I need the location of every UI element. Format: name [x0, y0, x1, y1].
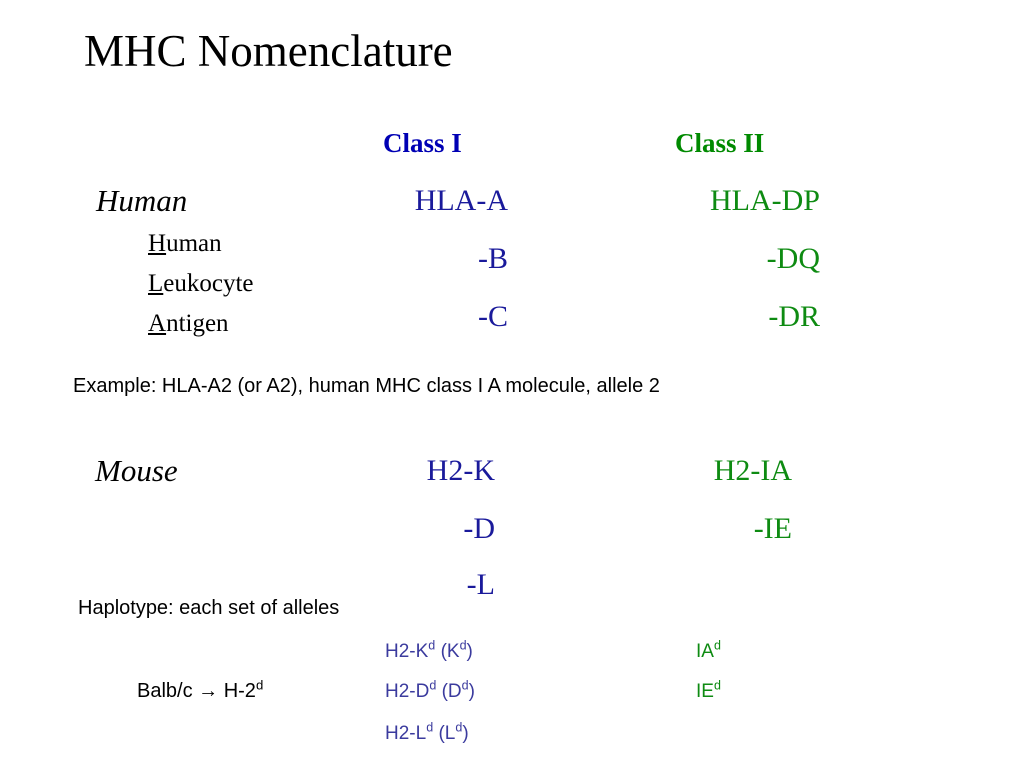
haplotype-allele-l-paren-close: )	[462, 723, 468, 744]
haplotype-allele-k-paren-base: (K	[441, 641, 460, 662]
human-expansion-line-2: Leukocyte	[148, 270, 254, 298]
human-class2-gene-dq: -DQ	[620, 242, 820, 276]
human-expansion-line-3: Antigen	[148, 310, 229, 338]
haplotype-allele-d-paren-sup: d	[462, 679, 469, 693]
human-class1-gene-a: HLA-A	[308, 184, 508, 218]
mouse-class2-gene-ia: H2-IA	[592, 454, 792, 488]
haplotype-allele-l-sup: d	[426, 721, 433, 735]
human-class1-gene-c: -C	[308, 300, 508, 334]
haplotype-note: Haplotype: each set of alleles	[78, 597, 339, 620]
haplotype-allele-d: H2-Dd (Dd)	[385, 681, 475, 703]
haplotype-allele-d-paren-base: (D	[442, 681, 462, 702]
human-expansion-rest-h: uman	[166, 230, 222, 257]
haplotype-allele-k-paren-close: )	[467, 641, 473, 662]
haplotype-allele-ia-sup: d	[714, 639, 721, 653]
human-class2-gene-dp: HLA-DP	[620, 184, 820, 218]
haplotype-allele-d-paren-close: )	[469, 681, 475, 702]
haplotype-allele-d-sup: d	[429, 679, 436, 693]
haplotype-allele-l-paren-base: (L	[438, 723, 455, 744]
haplotype-allele-ie: IEd	[696, 681, 721, 703]
slide-canvas: MHC Nomenclature Class I Class II Human …	[0, 0, 1024, 768]
strain-haplotype-text: Balb/c → H-2	[137, 680, 256, 702]
human-expansion-initial-l: L	[148, 270, 163, 297]
column-header-class-2: Class II	[675, 128, 764, 159]
human-class1-gene-b: -B	[308, 242, 508, 276]
page-title: MHC Nomenclature	[84, 28, 453, 75]
strain-haplotype-line: Balb/c → H-2d	[137, 680, 263, 703]
mouse-class1-gene-d: -D	[295, 512, 495, 546]
haplotype-allele-l: H2-Ld (Ld)	[385, 723, 469, 745]
human-expansion-initial-a: A	[148, 310, 166, 337]
haplotype-allele-ie-base: IE	[696, 681, 714, 702]
haplotype-allele-k-paren-sup: d	[460, 639, 467, 653]
haplotype-allele-l-base: H2-L	[385, 723, 426, 744]
species-label-mouse: Mouse	[95, 453, 178, 489]
human-expansion-line-1: Human	[148, 230, 222, 258]
human-example-note: Example: HLA-A2 (or A2), human MHC class…	[73, 375, 660, 398]
haplotype-allele-k: H2-Kd (Kd)	[385, 641, 473, 663]
haplotype-allele-k-sup: d	[428, 639, 435, 653]
haplotype-allele-k-base: H2-K	[385, 641, 428, 662]
species-label-human: Human	[96, 183, 187, 219]
column-header-class-1: Class I	[383, 128, 462, 159]
human-class2-gene-dr: -DR	[620, 300, 820, 334]
haplotype-allele-ia-base: IA	[696, 641, 714, 662]
human-expansion-rest-l: eukocyte	[163, 270, 253, 297]
haplotype-allele-d-base: H2-D	[385, 681, 429, 702]
mouse-class2-gene-ie: -IE	[592, 512, 792, 546]
strain-haplotype-superscript: d	[256, 677, 263, 692]
human-expansion-initial-h: H	[148, 230, 166, 257]
haplotype-allele-ia: IAd	[696, 641, 721, 663]
haplotype-allele-ie-sup: d	[714, 679, 721, 693]
mouse-class1-gene-k: H2-K	[295, 454, 495, 488]
human-expansion-rest-a: ntigen	[166, 310, 229, 337]
